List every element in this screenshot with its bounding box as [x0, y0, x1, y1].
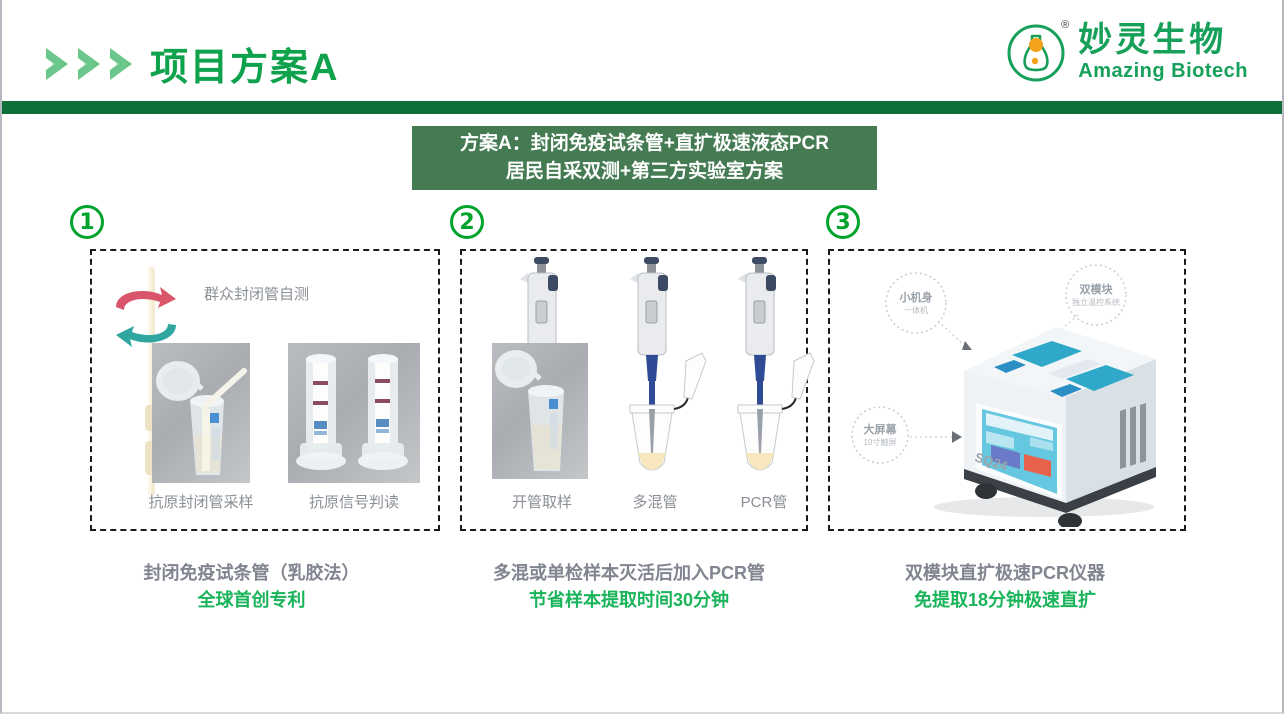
workflow-step-2: 2: [444, 205, 814, 550]
svg-text:双模块: 双模块: [1080, 282, 1114, 296]
banner-line-1: 方案A：封闭免疫试条管+直扩极速液态PCR: [460, 130, 829, 158]
step-badge-2: 2: [450, 205, 484, 239]
swab-in-tube-photo: [152, 343, 250, 483]
slide-root: 项目方案A ® 妙灵生物 Amazing Biotech 方案A：封闭免疫试条管…: [0, 0, 1284, 714]
step-2-dashed-box: 开管取样: [460, 249, 808, 531]
registered-mark: ®: [1061, 19, 1069, 31]
scheme-banner: 方案A：封闭免疫试条管+直扩极速液态PCR 居民自采双测+第三方实验室方案: [412, 126, 877, 190]
step-2-caption-3: PCR管: [720, 491, 808, 512]
step-1-inner-note: 群众封闭管自测: [204, 283, 309, 304]
triple-chevron-right-icon: [44, 44, 148, 84]
step-2-caption-2: 多混管: [612, 491, 698, 512]
step-2-summary: 多混或单检样本灭活后加入PCR管 节省样本提取时间30分钟: [444, 560, 814, 614]
step-badge-3: 3: [826, 205, 860, 239]
slide-header: 项目方案A ® 妙灵生物 Amazing Biotech: [2, 0, 1282, 100]
svg-text:小机身: 小机身: [899, 290, 933, 304]
workflow-panels: 1 群众封闭管自测: [2, 205, 1282, 555]
step-1-summary-line1: 封闭免疫试条管（乳胶法）: [64, 560, 439, 587]
page-title: 项目方案A: [150, 36, 339, 91]
logo-text-block: 妙灵生物 Amazing Biotech: [1078, 23, 1248, 81]
pipette-into-sample-tube-photo: [492, 257, 588, 483]
workflow-step-3: 3: [820, 205, 1190, 550]
step-summaries: 封闭免疫试条管（乳胶法） 全球首创专利 多混或单检样本灭活后加入PCR管 节省样…: [2, 560, 1282, 640]
logo-en-name: Amazing Biotech: [1078, 61, 1248, 81]
svg-text:大屏幕: 大屏幕: [864, 422, 898, 436]
banner-line-2: 居民自采双测+第三方实验室方案: [506, 158, 783, 186]
step-2-summary-line2: 节省样本提取时间30分钟: [444, 587, 814, 614]
antigen-test-tubes-photo: [288, 343, 420, 483]
step-1-summary: 封闭免疫试条管（乳胶法） 全球首创专利: [64, 560, 439, 614]
step-3-summary: 双模块直扩极速PCR仪器 免提取18分钟极速直扩: [820, 560, 1190, 614]
logo-cn-name: 妙灵生物: [1078, 23, 1248, 57]
step-1-caption-2: 抗原信号判读: [288, 491, 420, 512]
step-2-caption-1: 开管取样: [486, 491, 598, 512]
step-badge-1: 1: [70, 205, 104, 239]
flask-circle-logo-icon: ®: [1004, 20, 1068, 84]
workflow-step-1: 1 群众封闭管自测: [64, 205, 439, 550]
svg-text:10寸触屏: 10寸触屏: [864, 437, 897, 447]
step-1-dashed-box: 群众封闭管自测: [90, 249, 440, 531]
pcr-instrument-photo: SQ24 小机身 一体机 双模块 独立温控系统 大屏幕 10寸触屏: [834, 255, 1184, 527]
pipette-pcr-tube-icon: [710, 257, 820, 483]
header-green-divider: [2, 101, 1282, 114]
step-1-summary-line2: 全球首创专利: [64, 587, 439, 614]
pipette-multi-mix-tube-icon: [602, 257, 712, 483]
step-2-summary-line1: 多混或单检样本灭活后加入PCR管: [444, 560, 814, 587]
step-3-dashed-box: SQ24 小机身 一体机 双模块 独立温控系统 大屏幕 10寸触屏: [828, 249, 1186, 531]
step-1-caption-1: 抗原封闭管采样: [136, 491, 266, 512]
svg-text:一体机: 一体机: [904, 305, 928, 315]
step-3-summary-line2: 免提取18分钟极速直扩: [820, 587, 1190, 614]
step-3-summary-line1: 双模块直扩极速PCR仪器: [820, 560, 1190, 587]
company-logo: ® 妙灵生物 Amazing Biotech: [1004, 18, 1248, 86]
svg-text:独立温控系统: 独立温控系统: [1072, 297, 1120, 307]
